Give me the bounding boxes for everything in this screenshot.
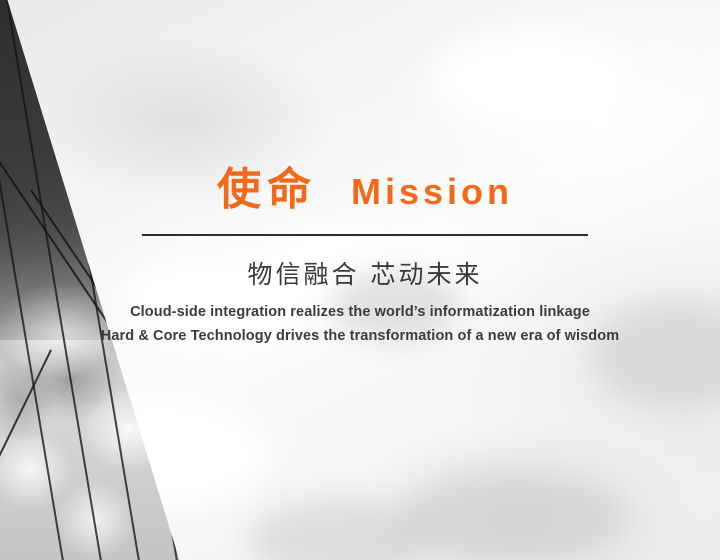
tagline-group: Cloud-side integration realizes the worl… [40, 300, 680, 348]
tagline-line: Cloud-side integration realizes the worl… [40, 300, 680, 324]
title-divider [142, 234, 588, 236]
page-title: 使命 Mission [142, 168, 588, 212]
banner-content: 使命 Mission 物信融合 芯动未来 Cloud-side integrat… [0, 0, 720, 560]
title-chinese: 使命 [217, 168, 317, 212]
title-english: Mission [351, 174, 513, 210]
tagline-line: Hard & Core Technology drives the transf… [40, 324, 680, 348]
subtitle-chinese: 物信融合 芯动未来 [142, 258, 588, 292]
mission-banner: 使命 Mission 物信融合 芯动未来 Cloud-side integrat… [0, 0, 720, 560]
